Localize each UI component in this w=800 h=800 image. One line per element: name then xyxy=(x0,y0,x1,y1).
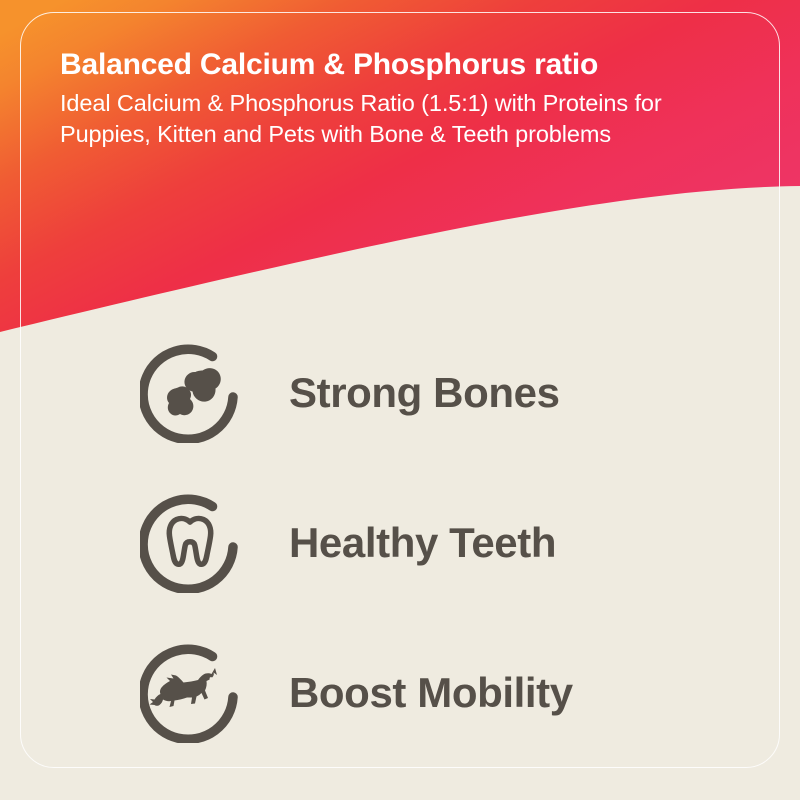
feature-item-boost-mobility: Boost Mobility xyxy=(0,618,800,768)
feature-label: Healthy Teeth xyxy=(289,519,556,567)
running-dog-circle-icon xyxy=(140,643,240,743)
bone-circle-icon xyxy=(140,343,240,443)
feature-list: Strong Bones Healthy Teeth Boost Mobilit… xyxy=(0,318,800,768)
feature-label: Strong Bones xyxy=(289,369,560,417)
page-title: Balanced Calcium & Phosphorus ratio xyxy=(60,46,720,84)
product-benefits-card: Balanced Calcium & Phosphorus ratio Idea… xyxy=(0,0,800,800)
feature-item-strong-bones: Strong Bones xyxy=(0,318,800,468)
page-subtitle: Ideal Calcium & Phosphorus Ratio (1.5:1)… xyxy=(60,88,710,150)
header-block: Balanced Calcium & Phosphorus ratio Idea… xyxy=(60,46,720,150)
feature-label: Boost Mobility xyxy=(289,669,573,717)
feature-item-healthy-teeth: Healthy Teeth xyxy=(0,468,800,618)
tooth-circle-icon xyxy=(140,493,240,593)
